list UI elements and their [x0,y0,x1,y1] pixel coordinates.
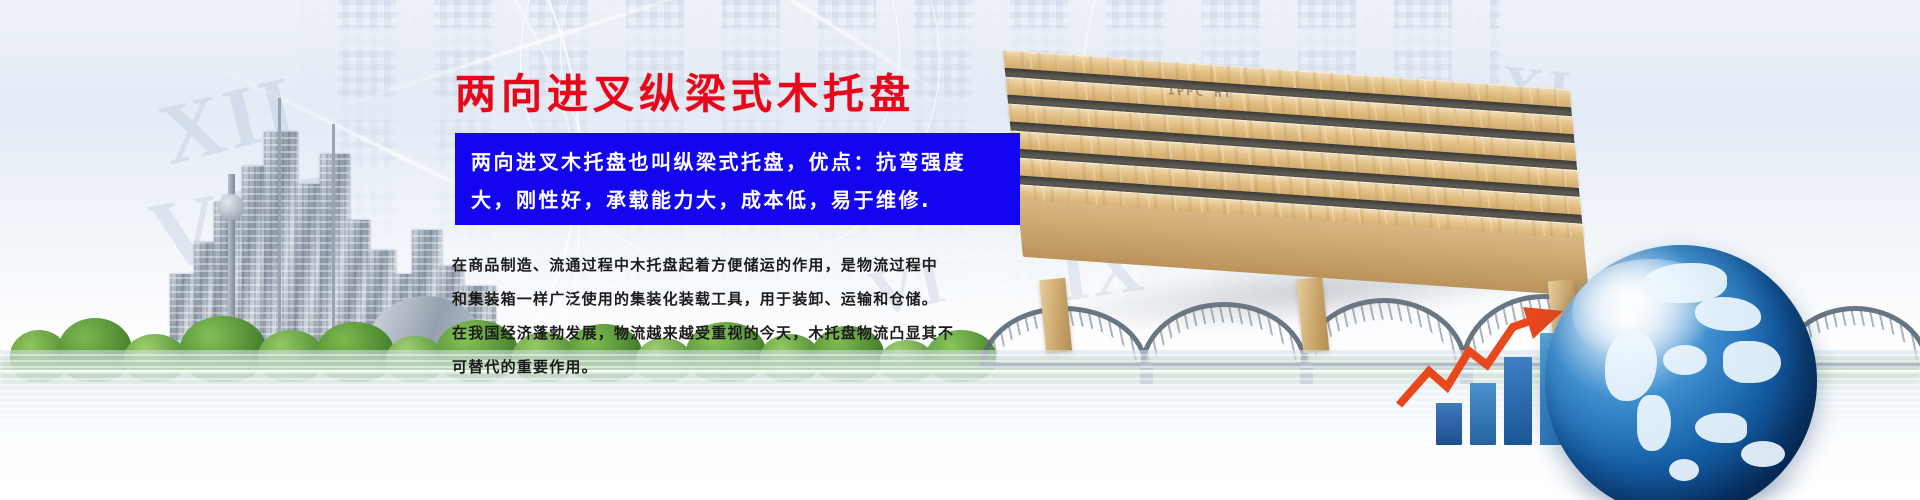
body-line-3: 在我国经济蓬勃发展，物流越来越受重视的今天，木托盘物流凸显其不 [452,316,1052,350]
body-paragraph: 在商品制造、流通过程中木托盘起着方便储运的作用，是物流过程中 和集装箱一样广泛使… [452,248,1052,384]
promotional-banner: XII VIII IX VI XI [0,0,1920,500]
highlight-callout-box: 两向进叉木托盘也叫纵梁式托盘，优点：抗弯强度 大，刚性好，承载能力大，成本低，易… [455,133,1020,225]
highlight-line-1: 两向进叉木托盘也叫纵梁式托盘，优点：抗弯强度 [471,143,1006,181]
body-line-2: 和集装箱一样广泛使用的集装化装载工具，用于装卸、运输和仓储。 [452,282,1052,316]
body-line-1: 在商品制造、流通过程中木托盘起着方便储运的作用，是物流过程中 [452,248,1052,282]
blue-earth-globe [1545,245,1817,500]
highlight-line-2: 大，刚性好，承载能力大，成本低，易于维修. [471,181,1006,219]
body-line-4: 可替代的重要作用。 [452,350,1052,384]
page-title: 两向进叉纵梁式木托盘 [455,60,915,120]
